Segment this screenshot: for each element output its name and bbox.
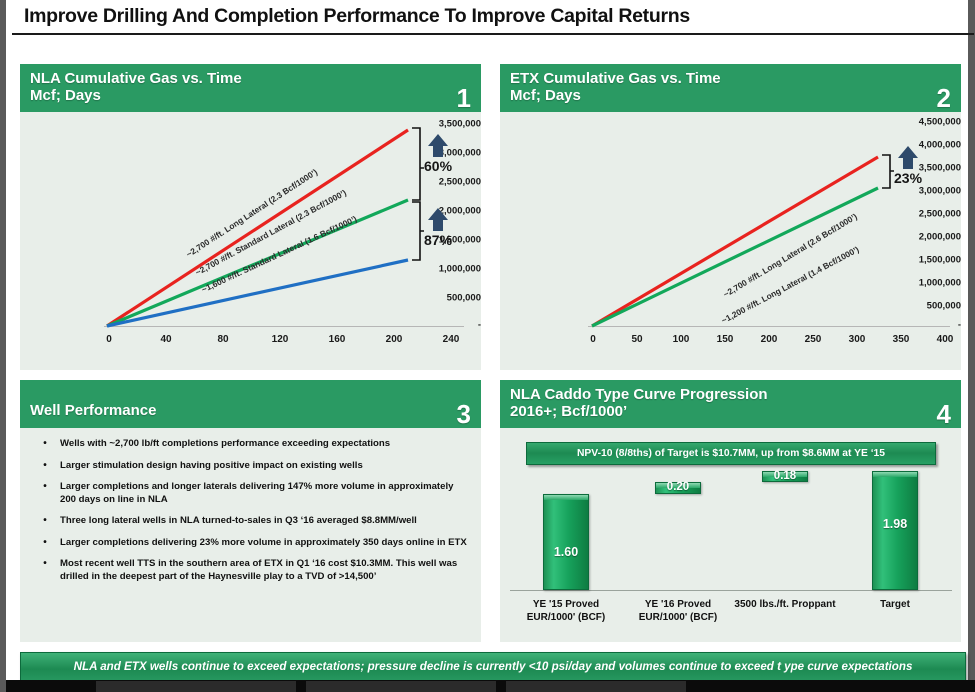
list-item: • Larger completions and longer laterals… <box>30 481 469 506</box>
delta-label-87: 87% <box>424 232 452 248</box>
x-tick: 0 <box>590 334 596 345</box>
x-tick: 50 <box>631 334 642 345</box>
bar-value-label: 0.18 <box>763 470 807 482</box>
panel-etx-cumulative-gas: ETX Cumulative Gas vs. Time Mcf; Days 2 … <box>500 64 961 370</box>
panel-4-body: NPV-10 (8/8ths) of Target is $10.7MM, up… <box>500 428 961 642</box>
category-label: YE '15 Proved EUR/1000' (BCF) <box>508 598 624 624</box>
category-label: 3500 lbs./ft. Proppant <box>727 598 843 611</box>
panel-3-body: • Wells with ~2,700 lb/ft completions pe… <box>20 428 481 642</box>
panel-4-subtitle: 2016+; Bcf/1000’ <box>510 403 951 420</box>
x-tick: 200 <box>386 334 403 345</box>
list-item-label: Larger stimulation design having positiv… <box>60 460 469 473</box>
panel-1-title: NLA Cumulative Gas vs. Time <box>30 70 471 87</box>
panel-4-title: NLA Caddo Type Curve Progression <box>510 386 951 403</box>
slide: Improve Drilling And Completion Performa… <box>0 0 975 692</box>
category-axis-line <box>510 590 952 591</box>
panel-1-number: 1 <box>457 85 471 111</box>
series-line-red <box>592 157 878 326</box>
npv-callout: NPV-10 (8/8ths) of Target is $10.7MM, up… <box>526 442 936 465</box>
series-line-blue <box>107 260 408 326</box>
list-item-label: Wells with ~2,700 lb/ft completions perf… <box>60 438 469 451</box>
taskbar-item[interactable] <box>306 681 496 692</box>
category-label: Target <box>837 598 953 611</box>
x-tick: 120 <box>272 334 289 345</box>
panel-4-number: 4 <box>937 401 951 427</box>
panel-4-header: NLA Caddo Type Curve Progression 2016+; … <box>500 380 961 428</box>
x-tick: 100 <box>673 334 690 345</box>
panel-well-performance: Well Performance 3 • Wells with ~2,700 l… <box>20 380 481 642</box>
bar-value-label: 0.20 <box>656 481 700 493</box>
bullet-icon: • <box>30 558 60 583</box>
panel-2-header: ETX Cumulative Gas vs. Time Mcf; Days 2 <box>500 64 961 112</box>
panel-nla-cumulative-gas: NLA Cumulative Gas vs. Time Mcf; Days 1 … <box>20 64 481 370</box>
list-item-label: Most recent well TTS in the southern are… <box>60 558 469 583</box>
bullet-icon: • <box>30 460 60 473</box>
delta-label-23: 23% <box>894 170 922 186</box>
panel-2-body: 4,500,000 4,000,000 3,500,000 3,000,000 … <box>500 112 961 370</box>
bullet-icon: • <box>30 438 60 451</box>
panel-3-title: Well Performance <box>30 402 471 419</box>
panel-2-number: 2 <box>937 85 951 111</box>
bullet-icon: • <box>30 481 60 506</box>
taskbar[interactable] <box>6 680 975 692</box>
x-tick: 240 <box>443 334 460 345</box>
bar-value-label: 1.60 <box>544 545 588 559</box>
x-tick: 300 <box>849 334 866 345</box>
bar-target: 1.98 <box>872 471 918 590</box>
taskbar-item[interactable] <box>506 681 686 692</box>
x-tick: 250 <box>805 334 822 345</box>
series-line-red <box>107 130 408 326</box>
title-bar: Improve Drilling And Completion Performa… <box>12 2 974 35</box>
panel-nla-caddo-type-curve: NLA Caddo Type Curve Progression 2016+; … <box>500 380 961 642</box>
list-item: • Larger stimulation design having posit… <box>30 460 469 473</box>
page-title: Improve Drilling And Completion Performa… <box>24 5 690 28</box>
x-tick: 350 <box>893 334 910 345</box>
delta-label-60: 60% <box>424 158 452 174</box>
panel-1-subtitle: Mcf; Days <box>30 87 471 104</box>
category-label: YE '16 Proved EUR/1000' (BCF) <box>620 598 736 624</box>
chart-2-plot <box>500 112 961 370</box>
x-tick: 400 <box>937 334 954 345</box>
up-arrow-icon <box>898 146 918 169</box>
panel-1-header: NLA Cumulative Gas vs. Time Mcf; Days 1 <box>20 64 481 112</box>
bracket-23 <box>882 155 894 188</box>
panel-2-subtitle: Mcf; Days <box>510 87 951 104</box>
list-item-label: Larger completions and longer laterals d… <box>60 481 469 506</box>
x-tick: 160 <box>329 334 346 345</box>
list-item: • Three long lateral wells in NLA turned… <box>30 515 469 528</box>
list-item-label: Larger completions delivering 23% more v… <box>60 537 469 550</box>
list-item: • Most recent well TTS in the southern a… <box>30 558 469 583</box>
panel-3-header: Well Performance 3 <box>20 380 481 428</box>
bar-ye16-proved: 0.20 <box>655 482 701 494</box>
panel-2-title: ETX Cumulative Gas vs. Time <box>510 70 951 87</box>
up-arrow-icon <box>428 134 448 157</box>
bullet-icon: • <box>30 537 60 550</box>
x-tick: 200 <box>761 334 778 345</box>
taskbar-item[interactable] <box>96 681 296 692</box>
panel-1-body: 3,500,000 3,000,000 2,500,000 2,000,000 … <box>20 112 481 370</box>
list-item: • Wells with ~2,700 lb/ft completions pe… <box>30 438 469 451</box>
bar-3500-proppant: 0.18 <box>762 471 808 482</box>
list-item: • Larger completions delivering 23% more… <box>30 537 469 550</box>
bracket-87 <box>412 202 424 260</box>
bullet-icon: • <box>30 515 60 528</box>
up-arrow-icon <box>428 208 448 231</box>
panel-3-number: 3 <box>457 401 471 427</box>
x-tick: 0 <box>106 334 112 345</box>
x-tick: 150 <box>717 334 734 345</box>
bracket-60 <box>412 128 424 200</box>
x-tick: 80 <box>217 334 228 345</box>
x-tick: 40 <box>160 334 171 345</box>
bar-ye15-proved: 1.60 <box>543 494 589 590</box>
list-item-label: Three long lateral wells in NLA turned-t… <box>60 515 469 528</box>
well-performance-bullet-list: • Wells with ~2,700 lb/ft completions pe… <box>20 428 481 583</box>
bar-value-label: 1.98 <box>873 517 917 531</box>
